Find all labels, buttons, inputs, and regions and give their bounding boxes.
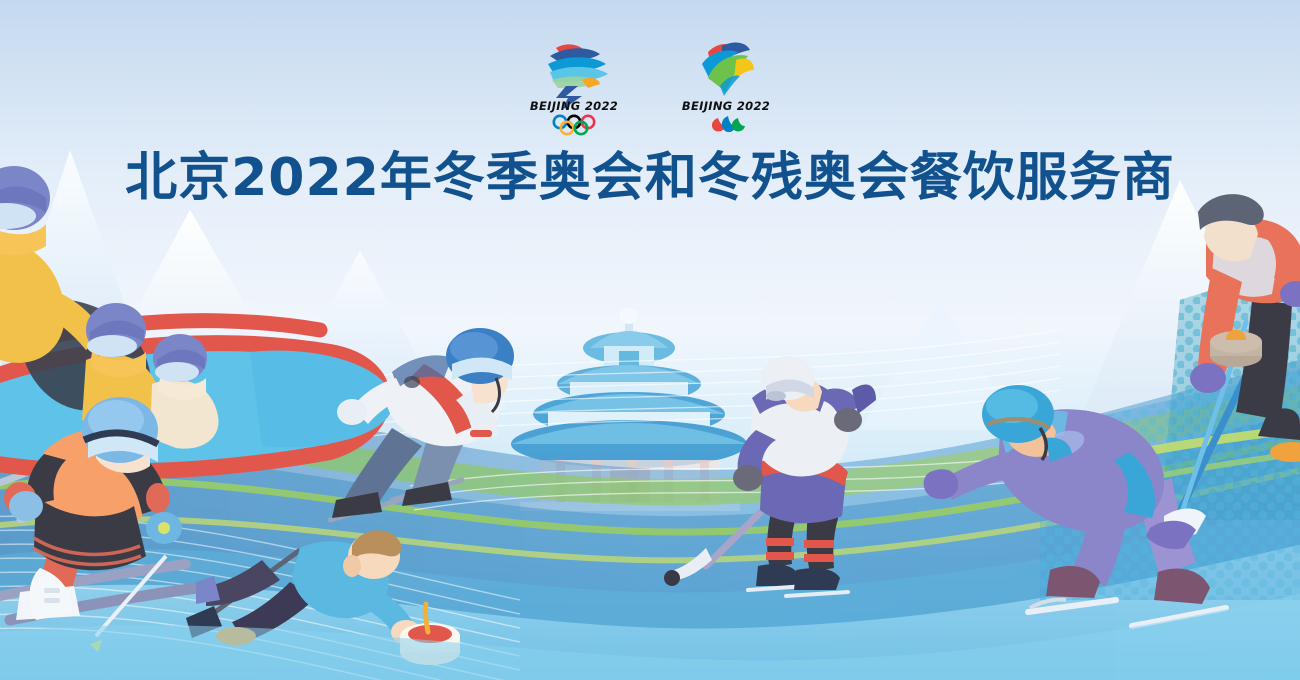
curling-stone-right <box>1210 330 1262 368</box>
beijing-2022-banner: BEIJING 2022 <box>0 0 1300 680</box>
scene-illustration <box>0 0 1300 680</box>
